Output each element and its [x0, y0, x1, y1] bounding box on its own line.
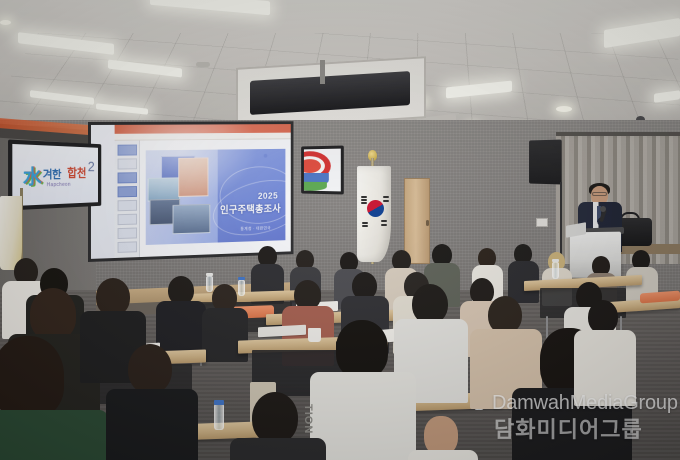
- agency-logo-icon: [262, 153, 280, 159]
- trigram-mark: [381, 224, 387, 226]
- trigram-mark: [381, 220, 387, 222]
- slide-title: 인구주택총조사: [220, 200, 281, 216]
- water-bottle: [214, 404, 224, 430]
- census-slide: 2025 인구주택총조사 통계청 · 대한민국: [146, 149, 286, 245]
- right-monitor-screen: [304, 149, 341, 192]
- trigram-mark: [361, 202, 367, 204]
- water-bottle: [552, 262, 559, 279]
- taeguk-icon: [367, 200, 384, 217]
- slide-thumbnail[interactable]: [118, 214, 137, 225]
- slide-thumbnail[interactable]: [118, 186, 137, 197]
- glasses-icon: [592, 192, 607, 196]
- door-handle-icon[interactable]: [426, 220, 429, 226]
- projected-image: 2025 인구주택총조사 통계청 · 대한민국: [91, 124, 291, 259]
- trigram-mark: [383, 200, 389, 202]
- microphone-head-icon: [600, 206, 606, 212]
- slide-photo-tile: [178, 157, 208, 197]
- bottle-cap: [238, 277, 245, 280]
- slide-thumbnail[interactable]: [118, 228, 137, 240]
- bottle-cap: [206, 273, 213, 276]
- photo-scene: 2025 인구주택총조사 통계청 · 대한민국 水 겨한 합천 Hapcheon…: [0, 0, 680, 460]
- ring-graphic: [304, 182, 327, 191]
- slide-thumbnail[interactable]: [118, 200, 137, 211]
- water-bottle: [238, 280, 245, 296]
- slide-thumbnail[interactable]: [118, 172, 137, 183]
- left-monitor-number: 2: [88, 159, 95, 175]
- projector-mount: [320, 60, 325, 84]
- slide-thumbnail-panel[interactable]: [115, 141, 140, 258]
- paper-cup: [308, 328, 321, 342]
- trigram-mark: [361, 196, 367, 198]
- power-outlet-icon: [536, 218, 548, 227]
- slide-canvas: 2025 인구주택총조사 통계청 · 대한민국: [140, 139, 291, 257]
- water-bottle: [206, 276, 213, 292]
- slide-thumbnail[interactable]: [118, 158, 137, 169]
- trigram-mark: [362, 222, 368, 224]
- hapcheon-logo-roman: Hapcheon: [47, 182, 71, 188]
- bottle-cap: [552, 259, 559, 262]
- panel-light: [150, 0, 270, 15]
- slide-photo-tile: [173, 204, 211, 234]
- hapcheon-logo-icon: 水: [23, 161, 42, 189]
- hapcheon-logo-text-2: 합천: [67, 164, 86, 181]
- trigram-mark: [383, 196, 389, 198]
- speaker-cable: [560, 182, 562, 260]
- shirt-lettering: TION: [302, 404, 314, 434]
- slide-photo-tile: [148, 177, 180, 201]
- korean-flag: [357, 166, 391, 262]
- slide-thumbnail[interactable]: [118, 145, 137, 156]
- slide-year: 2025: [258, 191, 278, 201]
- bottle-cap: [214, 400, 224, 405]
- projection-screen: 2025 인구주택총조사 통계청 · 대한민국: [88, 121, 293, 262]
- slide-thumbnail[interactable]: [118, 241, 137, 253]
- slide-subtitle: 통계청 · 대한민국: [241, 225, 271, 232]
- left-monitor-screen: 水 겨한 합천 Hapcheon 2: [12, 144, 98, 206]
- wall-speaker: [529, 139, 562, 184]
- right-wall-monitor: [301, 145, 344, 194]
- downlight: [0, 20, 11, 25]
- trigram-mark: [362, 225, 368, 227]
- downlight: [556, 106, 572, 112]
- smoke-detector-icon: [196, 62, 210, 67]
- hapcheon-logo-text-1: 겨한: [43, 166, 61, 182]
- trigram-mark: [361, 199, 367, 201]
- secondary-flag: [0, 196, 22, 270]
